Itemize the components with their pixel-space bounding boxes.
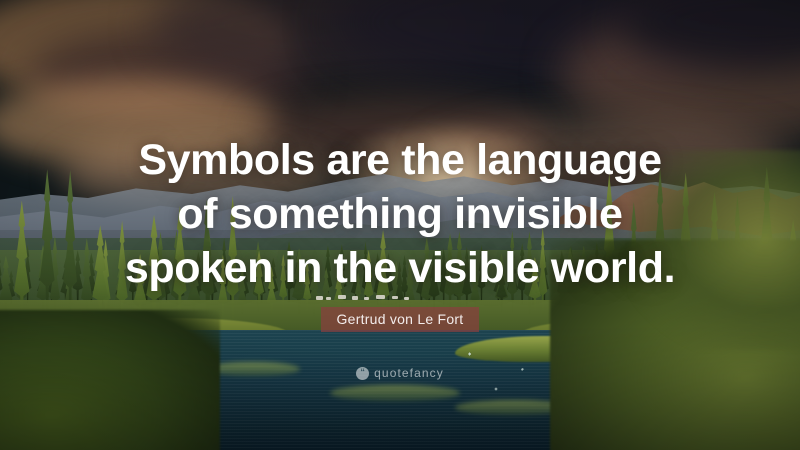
quote-badge-icon: “ (356, 367, 369, 380)
quote-line-1: Symbols are the language (0, 133, 800, 187)
camper-vehicle (376, 295, 385, 299)
camper-vehicle (404, 297, 409, 300)
quote-text-block: Symbols are the language of something in… (0, 133, 800, 295)
camper-vehicle (316, 296, 323, 300)
watermark-brand: quotefancy (374, 366, 444, 380)
quote-line-3: spoken in the visible world. (0, 241, 800, 295)
camper-vehicle (338, 295, 346, 299)
camper-vehicle (364, 297, 369, 300)
watermark: “ quotefancy (0, 366, 800, 380)
quote-image-card: Symbols are the language of something in… (0, 0, 800, 450)
quote-badge-glyph: “ (360, 368, 365, 377)
quote-line-2: of something invisible (0, 187, 800, 241)
camper-vehicle (392, 296, 398, 299)
camper-vehicle (352, 296, 358, 300)
weed-patch (330, 385, 460, 401)
author-name: Gertrud von Le Fort (321, 307, 480, 332)
author-attribution: Gertrud von Le Fort (0, 307, 800, 332)
camper-vehicle (326, 297, 331, 300)
